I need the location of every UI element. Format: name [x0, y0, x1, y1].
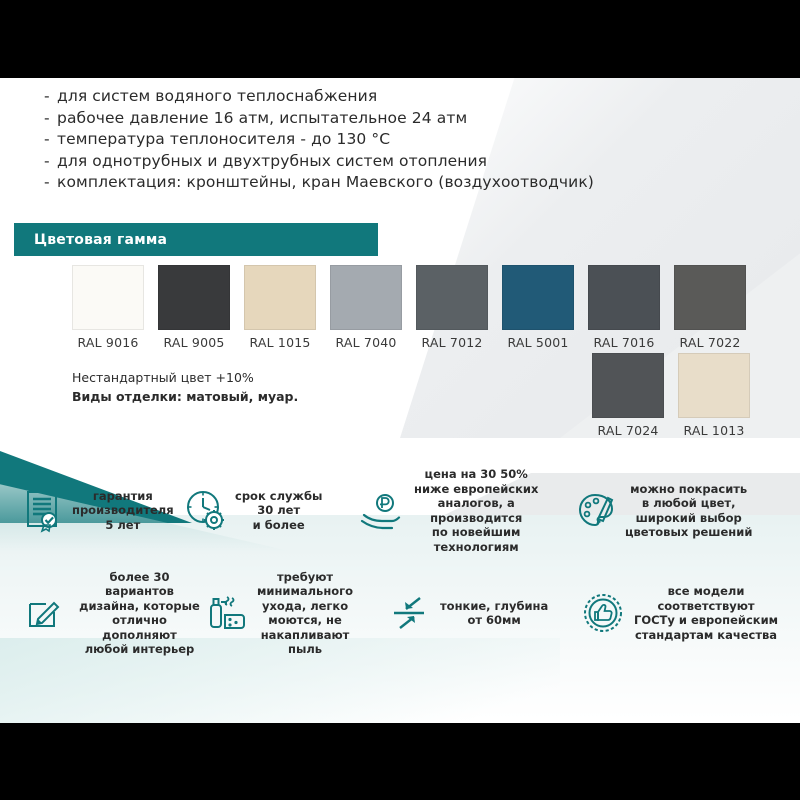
spray-sponge-icon — [205, 591, 249, 635]
ral-swatch-cell[interactable]: RAL 1015 — [244, 265, 316, 350]
ral-swatch-label: RAL 1013 — [678, 423, 750, 438]
ral-swatch-cell[interactable]: RAL 7016 — [588, 265, 660, 350]
ral-swatch-label: RAL 7016 — [588, 335, 660, 350]
bullet-dash: - — [44, 151, 57, 173]
pencil-square-icon — [24, 592, 66, 634]
feature-design-variants-text: более 30 вариантов дизайна, которые отли… — [66, 570, 205, 657]
ral-swatch-label: RAL 7040 — [330, 335, 402, 350]
feature-service-life-text: срок службы 30 лет и более — [227, 489, 322, 533]
feature-warranty: гарантия производителя 5 лет — [0, 458, 185, 563]
hand-ruble-icon — [360, 489, 406, 533]
intro-bullet-item: -комплектация: кронштейны, кран Маевског… — [44, 172, 664, 194]
gamut-notes: Нестандартный цвет +10% Виды отделки: ма… — [72, 368, 298, 406]
ral-swatch-cell[interactable]: RAL 7040 — [330, 265, 402, 350]
intro-bullet-text: температура теплоносителя - до 130 °C — [57, 130, 390, 148]
ral-swatch-label: RAL 7024 — [592, 423, 664, 438]
ral-swatch-color — [244, 265, 316, 330]
feature-standards-text: все модели соответствуют ГОСТу и европей… — [626, 584, 778, 642]
ral-swatch-color — [330, 265, 402, 330]
feature-paint-text: можно покрасить в любой цвет, широкий вы… — [617, 482, 752, 540]
ral-swatch-row-2: RAL 7024 RAL 1013 — [592, 353, 750, 438]
features-row-2: более 30 вариантов дизайна, которые отли… — [0, 563, 800, 663]
ral-swatch-label: RAL 1015 — [244, 335, 316, 350]
bullet-dash: - — [44, 108, 57, 130]
gamut-note-line: Виды отделки: матовый, муар. — [72, 387, 298, 406]
intro-bullet-item: -температура теплоносителя - до 130 °C — [44, 129, 664, 151]
feature-price-text: цена на 30 50% ниже европейских аналогов… — [406, 467, 538, 554]
feature-easy-care-text: требуют минимального ухода, легко моются… — [249, 570, 353, 657]
features-section: гарантия производителя 5 лет — [0, 458, 800, 663]
ral-swatch-cell[interactable]: RAL 7024 — [592, 353, 664, 438]
ral-swatch-color — [592, 353, 664, 418]
certificate-icon — [24, 489, 64, 533]
intro-bullet-text: для систем водяного теплоснабжения — [57, 87, 377, 105]
palette-brush-icon — [575, 489, 617, 533]
ral-swatch-cell[interactable]: RAL 9005 — [158, 265, 230, 350]
color-gamut-header: Цветовая гамма — [14, 223, 378, 256]
ral-swatch-label: RAL 5001 — [502, 335, 574, 350]
bullet-dash: - — [44, 129, 57, 151]
intro-bullet-text: комплектация: кронштейны, кран Маевского… — [57, 173, 594, 191]
feature-paint: можно покрасить в любой цвет, широкий вы… — [575, 458, 800, 563]
ral-swatch-color — [158, 265, 230, 330]
ral-swatch-cell[interactable]: RAL 9016 — [72, 265, 144, 350]
ral-swatch-label: RAL 7022 — [674, 335, 746, 350]
intro-bullet-list: -для систем водяного теплоснабжения -раб… — [44, 86, 664, 194]
ral-swatch-cell[interactable]: RAL 5001 — [502, 265, 574, 350]
intro-bullet-text: для однотрубных и двухтрубных систем ото… — [57, 152, 487, 170]
color-gamut-title: Цветовая гамма — [14, 232, 167, 248]
bullet-dash: - — [44, 172, 57, 194]
intro-bullet-item: -для систем водяного теплоснабжения — [44, 86, 664, 108]
slide-canvas: -для систем водяного теплоснабжения -раб… — [0, 78, 800, 723]
ral-swatch-color — [416, 265, 488, 330]
ral-swatch-label: RAL 9016 — [72, 335, 144, 350]
bullet-dash: - — [44, 86, 57, 108]
ral-swatch-cell[interactable]: RAL 1013 — [678, 353, 750, 438]
feature-service-life: срок службы 30 лет и более — [185, 458, 360, 563]
intro-bullet-item: -рабочее давление 16 атм, испытательное … — [44, 108, 664, 130]
thin-depth-arrows-icon — [390, 592, 432, 634]
slide-page: -для систем водяного теплоснабжения -раб… — [0, 0, 800, 800]
ral-swatch-cell[interactable]: RAL 7022 — [674, 265, 746, 350]
clock-gear-icon — [185, 489, 227, 533]
feature-warranty-text: гарантия производителя 5 лет — [64, 489, 174, 533]
ral-swatch-color — [678, 353, 750, 418]
ral-swatch-color — [502, 265, 574, 330]
feature-design-variants: более 30 вариантов дизайна, которые отли… — [0, 563, 205, 663]
thumbs-up-badge-icon — [580, 590, 626, 636]
intro-bullet-text: рабочее давление 16 атм, испытательное 2… — [57, 109, 467, 127]
ral-swatch-color — [588, 265, 660, 330]
ral-swatch-label: RAL 7012 — [416, 335, 488, 350]
feature-price: цена на 30 50% ниже европейских аналогов… — [360, 458, 575, 563]
features-row-1: гарантия производителя 5 лет — [0, 458, 800, 563]
ral-swatch-color — [674, 265, 746, 330]
gamut-note-line: Нестандартный цвет +10% — [72, 368, 298, 387]
feature-thin-depth-text: тонкие, глубина от 60мм — [432, 599, 548, 628]
ral-swatch-color — [72, 265, 144, 330]
feature-easy-care: требуют минимального ухода, легко моются… — [205, 563, 390, 663]
feature-thin-depth: тонкие, глубина от 60мм — [390, 563, 580, 663]
ral-swatch-row-1: RAL 9016 RAL 9005 RAL 1015 RAL 7040 RAL … — [72, 265, 746, 350]
ral-swatch-cell[interactable]: RAL 7012 — [416, 265, 488, 350]
feature-standards: все модели соответствуют ГОСТу и европей… — [580, 563, 800, 663]
intro-bullet-item: -для однотрубных и двухтрубных систем от… — [44, 151, 664, 173]
ral-swatch-label: RAL 9005 — [158, 335, 230, 350]
